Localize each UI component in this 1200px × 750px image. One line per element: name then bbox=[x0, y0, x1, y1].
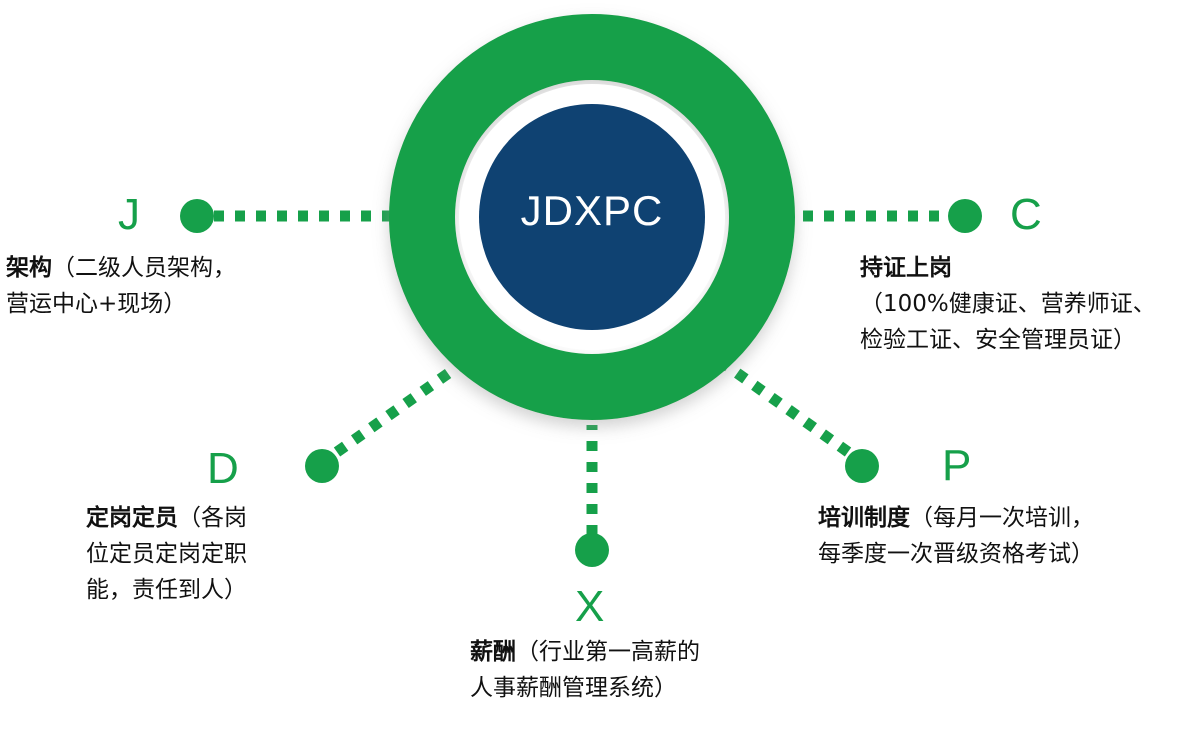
diagram-canvas: JDXPC J C D X P 架构（二级人员架构， 营运中心+现场） 持证上岗… bbox=[0, 0, 1200, 750]
branch-detail: （各岗 bbox=[178, 505, 247, 531]
branch-keyword: 架构 bbox=[6, 255, 52, 281]
branch-text-j: 架构（二级人员架构， 营运中心+现场） bbox=[6, 250, 326, 322]
branch-text-line: 位定员定岗定职 bbox=[86, 536, 316, 572]
branch-text-line: 人事薪酬管理系统） bbox=[470, 670, 790, 706]
branch-text-line: 定岗定员（各岗 bbox=[86, 500, 316, 536]
branch-text-line: 培训制度（每月一次培训， bbox=[818, 500, 1200, 536]
node-x[interactable] bbox=[575, 533, 609, 567]
connector-p bbox=[716, 358, 848, 452]
branch-letter-p: P bbox=[942, 444, 971, 488]
branch-letter-x: X bbox=[575, 585, 604, 629]
branch-detail: （每月一次培训， bbox=[910, 505, 1094, 531]
branch-keyword: 培训制度 bbox=[818, 505, 910, 531]
branch-letter-j: J bbox=[118, 193, 140, 237]
branch-detail: 检验工证、安全管理员证） bbox=[860, 327, 1136, 353]
connector-d bbox=[337, 358, 470, 452]
branch-keyword: 定岗定员 bbox=[86, 505, 178, 531]
node-d[interactable] bbox=[305, 449, 339, 483]
branch-detail: 位定员定岗定职 bbox=[86, 541, 247, 567]
branch-keyword: 持证上岗 bbox=[860, 255, 952, 281]
branch-detail: 能，责任到人） bbox=[86, 577, 247, 603]
branch-letter-c: C bbox=[1010, 193, 1042, 237]
branch-text-x: 薪酬（行业第一高薪的 人事薪酬管理系统） bbox=[470, 634, 790, 706]
branch-text-line: 每季度一次晋级资格考试） bbox=[818, 536, 1200, 572]
branch-detail: （二级人员架构， bbox=[52, 255, 236, 281]
branch-detail: （行业第一高薪的 bbox=[516, 639, 700, 665]
node-j[interactable] bbox=[180, 199, 214, 233]
branch-text-p: 培训制度（每月一次培训， 每季度一次晋级资格考试） bbox=[818, 500, 1200, 572]
branch-text-line: 能，责任到人） bbox=[86, 572, 316, 608]
branch-detail: 每季度一次晋级资格考试） bbox=[818, 541, 1094, 567]
hub-label: JDXPC bbox=[392, 190, 792, 232]
branch-text-d: 定岗定员（各岗 位定员定岗定职 能，责任到人） bbox=[86, 500, 316, 608]
branch-text-c: 持证上岗 （100%健康证、营养师证、 检验工证、安全管理员证） bbox=[860, 250, 1200, 358]
branch-letter-d: D bbox=[207, 447, 239, 491]
branch-text-line: （100%健康证、营养师证、 bbox=[860, 286, 1200, 322]
branch-text-line: 架构（二级人员架构， bbox=[6, 250, 326, 286]
branch-text-line: 营运中心+现场） bbox=[6, 286, 326, 322]
branch-detail: 营运中心+现场） bbox=[6, 291, 186, 317]
branch-keyword: 薪酬 bbox=[470, 639, 516, 665]
branch-text-line: 检验工证、安全管理员证） bbox=[860, 322, 1200, 358]
node-c[interactable] bbox=[948, 199, 982, 233]
branch-text-line: 薪酬（行业第一高薪的 bbox=[470, 634, 790, 670]
branch-detail: （100%健康证、营养师证、 bbox=[860, 291, 1156, 317]
branch-text-line: 持证上岗 bbox=[860, 250, 1200, 286]
branch-detail: 人事薪酬管理系统） bbox=[470, 675, 677, 701]
node-p[interactable] bbox=[845, 449, 879, 483]
